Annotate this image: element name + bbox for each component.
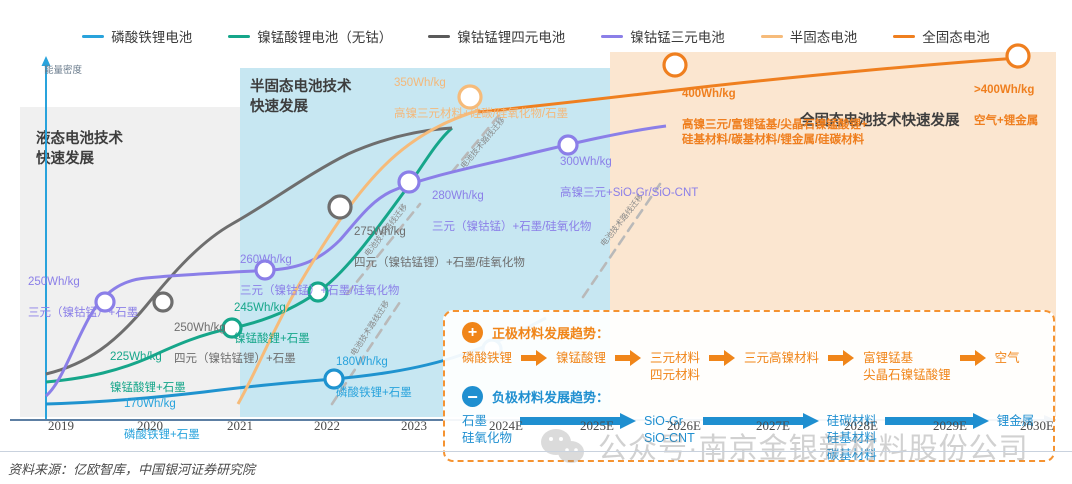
arrow-right-icon [709,350,735,366]
callout-ncm-2023: 260Wh/kg 三元（镍钴锰）+石墨/硅氧化物 [240,238,399,314]
legend-item-semisolid[interactable]: 半固态电池 [761,26,858,46]
xtick-2021: 2021 [227,418,253,434]
callout-value: 260Wh/kg [240,253,399,268]
callout-material: 高镍三元材料+硅碳/硅氧化物/石墨 [394,107,568,122]
y-axis-label: 能量密度 [44,62,82,76]
legend-swatch-allsolid [893,35,915,38]
legend-label-quaternary: 镍钴锰锂四元电池 [457,26,565,46]
plot-area: 液态电池技术 快速发展 半固态电池技术 快速发展 全固态电池技术快速发展 [0,52,1072,424]
callout-value: 400Wh/kg [682,87,868,102]
marker-ncm-2025 [399,172,419,192]
callout-value: 180Wh/kg [336,355,412,370]
arrow-right-icon [828,350,854,366]
callout-material: 三元（镍钴锰）+石墨/硅氧化物 [240,284,399,299]
xtick-2022: 2022 [314,418,340,434]
minus-icon: − [462,386,483,407]
arrow-right-icon [521,350,547,366]
cathode-step-2: 三元材料 四元材料 [650,350,700,384]
legend-swatch-semisolid [761,35,783,38]
legend-item-lnmo[interactable]: 镍锰酸锂电池（无钴） [228,26,392,46]
xtick-2030E: 2030E [1020,418,1054,434]
xtick-2019: 2019 [48,418,74,434]
anode-header: − 负极材料发展趋势： [462,386,609,407]
y-axis [42,56,51,420]
chart-legend: 磷酸铁锂电池 镍锰酸锂电池（无钴） 镍钴锰锂四元电池 镍钴锰三元电池 半固态电池… [0,24,1072,48]
callout-value: 350Wh/kg [394,76,568,91]
chart-root: 磷酸铁锂电池 镍锰酸锂电池（无钴） 镍钴锰锂四元电池 镍钴锰三元电池 半固态电池… [0,0,1072,484]
cathode-step-5: 空气 [995,350,1020,367]
x-axis-ticks: 2019 2020 2021 2022 2023 2024E 2025E 202… [0,418,1072,436]
legend-item-quaternary[interactable]: 镍钴锰锂四元电池 [428,26,565,46]
xtick-2020: 2020 [137,418,163,434]
callout-material: 四元（镍钴锰锂）+石墨 [174,352,296,367]
legend-label-semisolid: 半固态电池 [790,26,858,46]
callout-material: 镍锰酸锂+石墨 [110,381,186,396]
source-note: 资料来源：亿欧智库，中国银河证券研究院 [8,459,255,478]
legend-label-ncm: 镍钴锰三元电池 [630,26,725,46]
callout-material: 空气+锂金属 [974,114,1038,129]
cathode-header: + 正极材料发展趋势： [462,322,609,343]
callout-material: 磷酸铁锂+石墨 [336,386,412,401]
callout-ncm-2020: 250Wh/kg 三元（镍钴锰）+石墨 [28,260,138,336]
legend-swatch-lfp [82,35,104,38]
marker-quaternary-2021 [154,293,172,311]
legend-label-lfp: 磷酸铁锂电池 [111,26,192,46]
legend-swatch-quaternary [428,35,450,38]
callout-material: 三元（镍钴锰）+石墨 [28,306,138,321]
xtick-2023: 2023 [401,418,427,434]
plus-icon: + [462,322,483,343]
callout-value: 300Wh/kg [560,155,698,170]
cathode-step-0: 磷酸铁锂 [462,350,512,367]
xtick-2026E: 2026E [667,418,701,434]
callout-material: 高镍三元+SiO-Gr/SiO-CNT [560,186,698,201]
material-trend-box: + 正极材料发展趋势： 磷酸铁锂 镍锰酸锂 三元材料 四元材料 三元高镍材料 富… [443,310,1055,462]
xtick-2025E: 2025E [580,418,614,434]
cathode-steps: 磷酸铁锂 镍锰酸锂 三元材料 四元材料 三元高镍材料 富锂锰基 尖晶石镍锰酸锂 … [462,350,1020,384]
arrow-right-icon [615,350,641,366]
xtick-2024E: 2024E [489,418,523,434]
legend-item-lfp[interactable]: 磷酸铁锂电池 [82,26,192,46]
legend-swatch-lnmo [228,35,250,38]
callout-lfp-2025: 180Wh/kg 磷酸铁锂+石墨 [336,340,412,416]
legend-item-ncm[interactable]: 镍钴锰三元电池 [601,26,725,46]
xtick-2027E: 2027E [756,418,790,434]
callout-quaternary-2021: 250Wh/kg 四元（镍钴锰锂）+石墨 [174,306,296,382]
callout-material: 高镍三元/富锂锰基/尖晶石镍锰酸锂+ 硅基材料/碳基材料/锂金属/硅碳材料 [682,118,868,148]
callout-value: 250Wh/kg [28,275,138,290]
cathode-step-4: 富锂锰基 尖晶石镍锰酸锂 [863,350,951,384]
callout-allsolid-2030: >400Wh/kg 空气+锂金属 [974,68,1038,144]
legend-item-allsolid[interactable]: 全固态电池 [893,26,990,46]
cathode-step-1: 镍锰酸锂 [556,350,606,367]
marker-quaternary-2024 [329,196,351,218]
cathode-step-3: 三元高镍材料 [744,350,819,367]
cathode-title: 正极材料发展趋势： [492,323,609,342]
legend-label-lnmo: 镍锰酸锂电池（无钴） [257,26,392,46]
legend-label-allsolid: 全固态电池 [922,26,990,46]
callout-semisolid-2026: 350Wh/kg 高镍三元材料+硅碳/硅氧化物/石墨 [394,61,568,137]
arrow-right-icon [960,350,986,366]
callout-material: 三元（镍钴锰）+石墨/硅氧化物 [432,220,591,235]
footer-divider [0,451,1072,452]
marker-allsolid-2030 [1007,45,1029,67]
callout-value: >400Wh/kg [974,83,1038,98]
xtick-2029E: 2029E [933,418,967,434]
callout-value: 250Wh/kg [174,321,296,336]
anode-title: 负极材料发展趋势： [492,387,609,406]
callout-ncm-2028: 300Wh/kg 高镍三元+SiO-Gr/SiO-CNT [560,140,698,216]
callout-allsolid-2027: 400Wh/kg 高镍三元/富锂锰基/尖晶石镍锰酸锂+ 硅基材料/碳基材料/锂金… [682,72,868,163]
xtick-2028E: 2028E [844,418,878,434]
legend-swatch-ncm [601,35,623,38]
